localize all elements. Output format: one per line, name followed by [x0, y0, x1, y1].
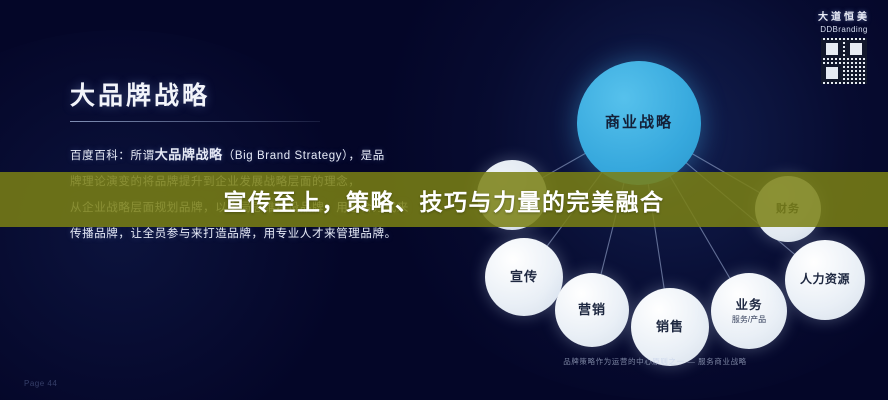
slide-title: 大品牌战略	[70, 76, 210, 112]
diagram-node-business-label: 业务	[735, 298, 762, 312]
diagram-node-hr: 人力资源	[785, 240, 865, 320]
diagram-node-promotion: 宣传	[485, 238, 563, 316]
diagram-node-marketing: 营销	[555, 273, 629, 347]
diagram-node-hr-label: 人力资源	[800, 273, 850, 287]
qr-code-icon	[821, 38, 867, 84]
watermark-brand-cn: 大道恒美	[812, 8, 876, 23]
body-line-1-prefix: 百度百科：所谓	[70, 150, 155, 162]
body-line-1: 百度百科：所谓大品牌战略（Big Brand Strategy），是品	[70, 142, 442, 169]
diagram-node-sales: 销售	[631, 288, 709, 366]
body-line-1-suffix: ，是品	[349, 150, 385, 162]
diagram-node-hub: 商业战略	[577, 61, 701, 185]
diagram-caption: 品牌策略作为运营的中心原则之一 — 服务商业战略	[455, 356, 855, 367]
diagram-node-promotion-label: 宣传	[510, 270, 538, 285]
watermark: 大道恒美 DDBranding	[812, 8, 876, 84]
slide-screenshot: 大品牌战略 百度百科：所谓大品牌战略（Big Brand Strategy），是…	[0, 0, 888, 400]
overlay-headline: 宣传至上，策略、技巧与力量的完美融合	[224, 183, 665, 217]
body-line-1-paren: （Big Brand Strategy）	[223, 150, 349, 162]
watermark-brand-en: DDBranding	[812, 25, 876, 34]
diagram-node-business-sublabel: 服务/产品	[732, 315, 766, 324]
page-number: Page 44	[24, 379, 57, 388]
body-line-1-strong: 大品牌战略	[155, 147, 223, 162]
diagram-node-marketing-label: 营销	[578, 303, 606, 318]
overlay-banner: 宣传至上，策略、技巧与力量的完美融合	[0, 172, 888, 227]
diagram-node-business: 业务 服务/产品	[711, 273, 787, 349]
diagram-node-sales-label: 销售	[656, 320, 684, 335]
title-divider	[70, 121, 320, 122]
diagram-node-hub-label: 商业战略	[605, 114, 673, 131]
